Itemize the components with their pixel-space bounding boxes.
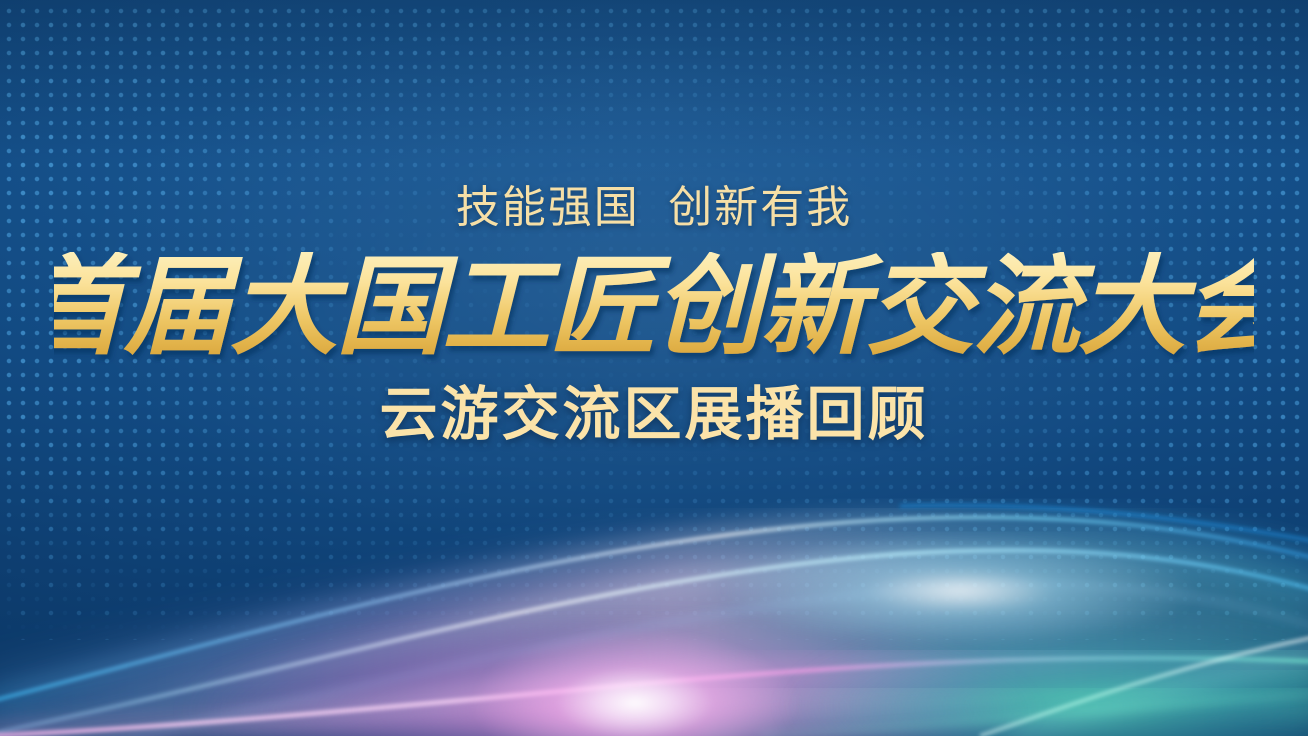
main-title-glyphs: 首届大国工匠创新交流大会: [54, 252, 1254, 368]
event-poster: 技能强国 创新有我 首届大国工匠创新交流大会: [0, 0, 1308, 736]
poster-subtitle: 云游交流区展播回顾: [0, 386, 1308, 444]
poster-main-title: 首届大国工匠创新交流大会: [0, 252, 1308, 372]
poster-text-block: 技能强国 创新有我 首届大国工匠创新交流大会: [0, 0, 1308, 444]
poster-tagline: 技能强国 创新有我: [0, 186, 1308, 230]
ribbon-hotspot-glow: [470, 628, 800, 736]
